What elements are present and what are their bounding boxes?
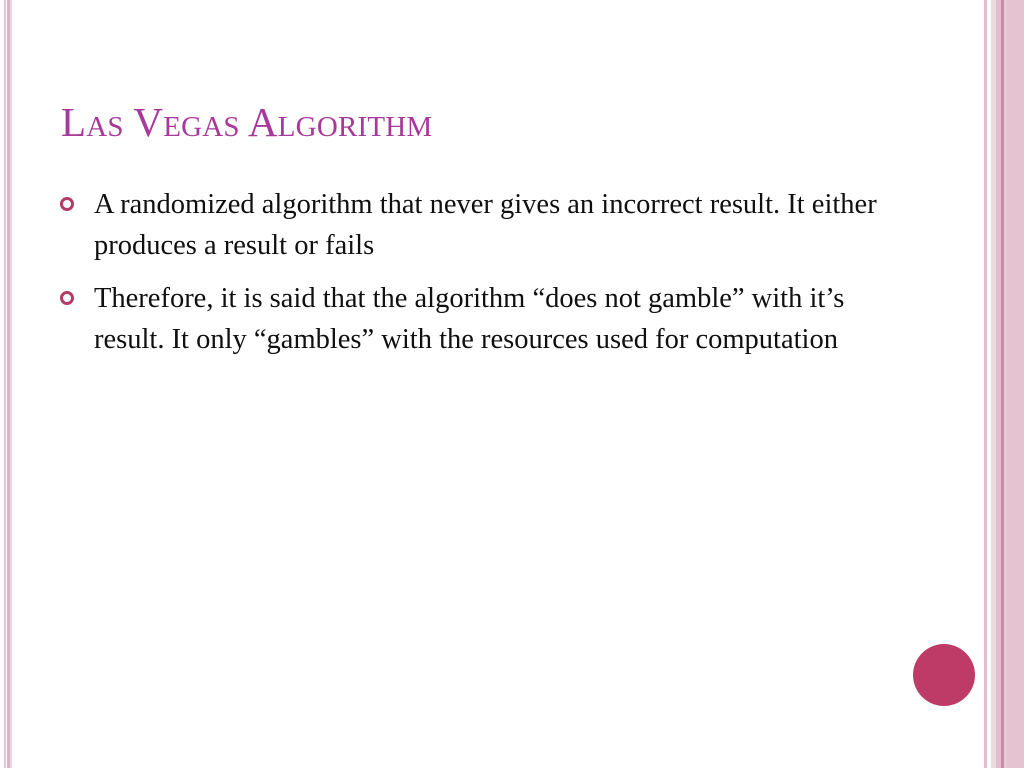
right-border-stripe-4 xyxy=(1001,0,1004,768)
right-border-stripe-1 xyxy=(984,0,987,768)
right-border-stripe-2 xyxy=(991,0,996,768)
right-border-stripe-5 xyxy=(1004,0,1007,768)
slide-title: Las Vegas Algorithm xyxy=(61,100,821,144)
accent-dot-decoration xyxy=(913,644,975,706)
left-border-stripe-1 xyxy=(4,0,6,768)
bullet-circle-icon xyxy=(60,291,74,305)
bullet-circle-icon xyxy=(60,197,74,211)
left-border-stripe-3 xyxy=(10,0,12,768)
list-item-label: Therefore, it is said that the algorithm… xyxy=(94,283,844,355)
right-border-stripe-6 xyxy=(1007,0,1024,768)
list-item: A randomized algorithm that never gives … xyxy=(55,184,885,266)
left-border-stripe-2 xyxy=(7,0,10,768)
list-item: Therefore, it is said that the algorithm… xyxy=(55,278,885,360)
presentation-slide: Las Vegas Algorithm A randomized algorit… xyxy=(0,0,1024,768)
list-item-label: A randomized algorithm that never gives … xyxy=(94,189,877,261)
right-border-stripe-3 xyxy=(996,0,1001,768)
slide-body-bullet-list: A randomized algorithm that never gives … xyxy=(55,184,885,372)
